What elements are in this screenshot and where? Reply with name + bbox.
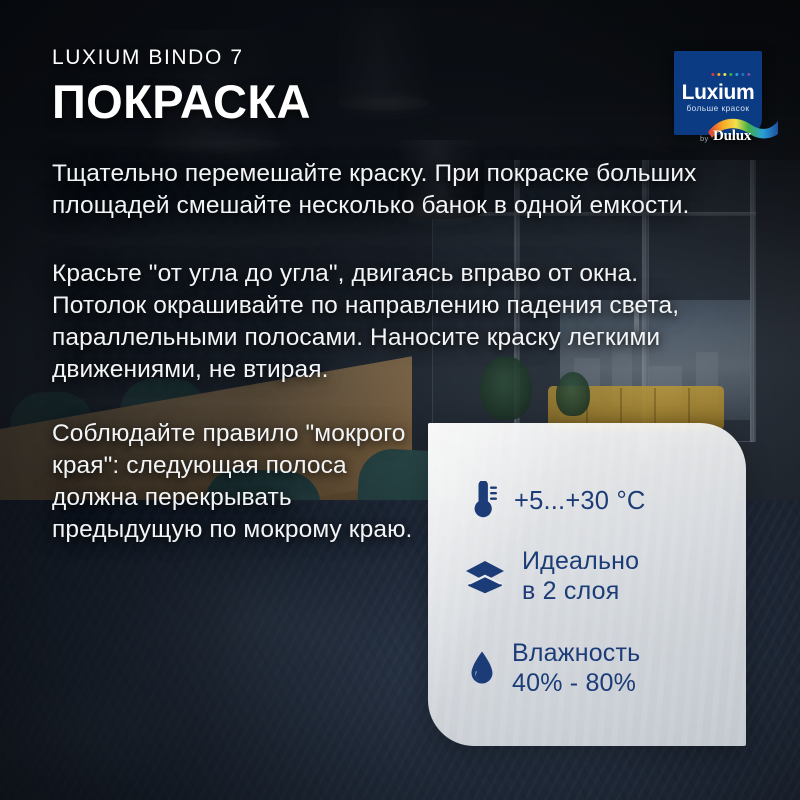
- specs-card: +5...+30 °C Идеально в 2 слоя: [428, 423, 746, 746]
- logo-dot-cyan: [735, 73, 738, 76]
- spec-label-humidity: Влажность 40% - 80%: [512, 639, 640, 698]
- logo-dot-green: [729, 73, 732, 76]
- logo-tagline: больше красок: [686, 104, 749, 113]
- dulux-by-label: by: [700, 134, 709, 143]
- poster-content: LUXIUM BINDO 7 ПОКРАСКА Тщательно переме…: [0, 0, 800, 800]
- instruction-paragraph-1: Тщательно перемешайте краску. При покрас…: [52, 158, 728, 222]
- spec-row-humidity: Влажность 40% - 80%: [468, 639, 640, 698]
- logo-dot-purple: [747, 73, 750, 76]
- instruction-paragraph-2: Красьте "от угла до угла", двигаясь впра…: [52, 258, 728, 385]
- spec-row-layers: Идеально в 2 слоя: [464, 547, 639, 606]
- spec-row-temperature: +5...+30 °C: [468, 481, 645, 521]
- spec-label-layers: Идеально в 2 слоя: [522, 547, 639, 606]
- dulux-wordmark: Dulux: [713, 128, 751, 145]
- water-drop-icon: [468, 649, 496, 689]
- poster-canvas: LUXIUM BINDO 7 ПОКРАСКА Тщательно переме…: [0, 0, 800, 800]
- product-eyebrow: LUXIUM BINDO 7: [52, 46, 244, 70]
- logo-dot-yellow: [723, 73, 726, 76]
- instruction-paragraph-3: Соблюдайте правило "мокрого края": следу…: [52, 418, 422, 545]
- specs-list: +5...+30 °C Идеально в 2 слоя: [428, 423, 746, 746]
- logo-dot-red: [711, 73, 714, 76]
- logo-color-dots: [711, 73, 750, 76]
- thermometer-icon: [468, 481, 498, 521]
- spec-label-temperature: +5...+30 °C: [514, 486, 645, 516]
- layers-icon: [464, 557, 506, 597]
- page-title: ПОКРАСКА: [52, 76, 311, 129]
- logo-dot-blue: [741, 73, 744, 76]
- logo-dot-orange: [717, 73, 720, 76]
- logo-wordmark: Luxium: [682, 81, 755, 105]
- dulux-endorsement: by Dulux: [700, 114, 778, 148]
